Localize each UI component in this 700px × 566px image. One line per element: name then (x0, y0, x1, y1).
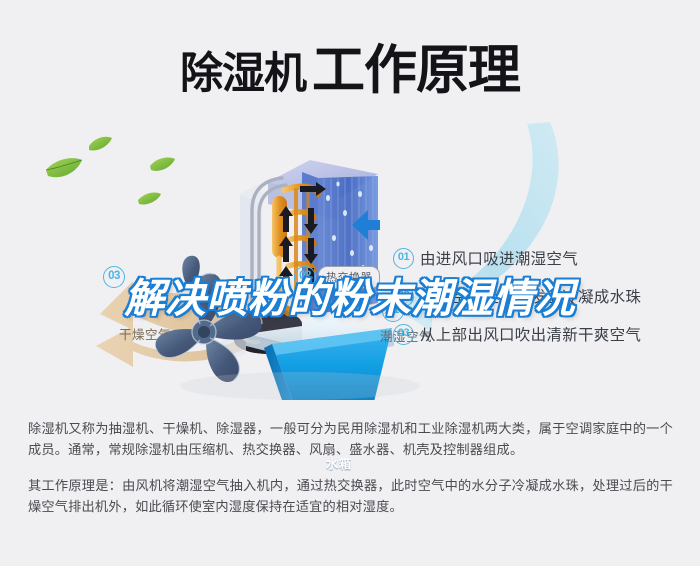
page-title-large: 工作原理 (312, 41, 520, 100)
legend-badge: 01 (393, 248, 414, 269)
page-title-small: 除湿机 (180, 50, 306, 98)
leaf-icons (46, 137, 175, 205)
legend-item: 02潮湿空气经过蒸发器冷凝成水珠 (393, 285, 641, 309)
label-dry-air: 干燥空气 (119, 324, 171, 343)
legend-item: 01由进风口吸进潮湿空气 (393, 247, 578, 271)
legend-label: 从上部出风口吹出清新干爽空气 (420, 323, 641, 345)
diagram-illustration: 03 干燥空气 02 热交换器 01 潮湿空气 水箱 (0, 118, 700, 400)
dehumidifier-infographic: 除湿机工作原理 (0, 0, 700, 566)
badge-step-03: 03 (103, 266, 125, 288)
legend-label: 潮湿空气经过蒸发器冷凝成水珠 (420, 285, 641, 307)
legend-badge: 03 (393, 324, 414, 345)
body-copy: 除湿机又称为抽湿机、干燥机、除湿器，一般可分为民用除湿机和工业除湿机两大类，属于… (28, 418, 673, 532)
diagram-svg (0, 118, 700, 400)
body-paragraph-2: 其工作原理是：由风机将潮湿空气抽入机内，通过热交换器，此时空气中的水分子冷凝成水… (28, 475, 673, 517)
page-title: 除湿机工作原理 (0, 28, 700, 104)
legend-label: 由进风口吸进潮湿空气 (420, 247, 578, 269)
badge-step-02: 02 (294, 266, 316, 288)
legend-item: 03从上部出风口吹出清新干爽空气 (393, 323, 641, 347)
ground-shadow (180, 372, 420, 400)
callout-tail-inner-icon (344, 285, 354, 293)
body-paragraph-1: 除湿机又称为抽湿机、干燥机、除湿器，一般可分为民用除湿机和工业除湿机两大类，属于… (28, 418, 673, 460)
legend-badge: 02 (393, 286, 414, 307)
